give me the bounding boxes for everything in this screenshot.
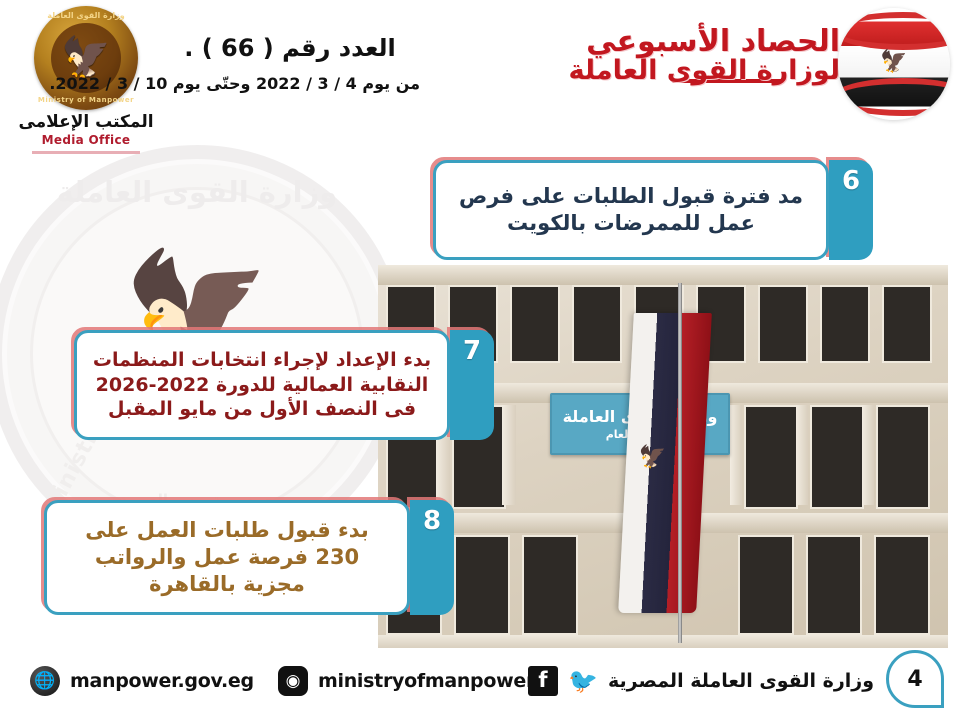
callout-text: بدء الإعداد لإجراء انتخابات المنظمات الن… [91, 348, 433, 422]
globe-swirl-bottom-icon [838, 78, 950, 116]
infographic-page: وزارة القوى العاملة 🦅 جمهورية مصر العربي… [0, 0, 960, 720]
eagle-emblem-icon: 🦅 [880, 49, 907, 74]
callout-body: مد فترة قبول الطلبات على فرص عمل للممرضا… [433, 160, 829, 260]
building-window [758, 285, 808, 363]
callout-text: بدء قبول طلبات العمل على 230 فرصة عمل وا… [61, 517, 393, 599]
building-window [744, 405, 798, 509]
callout-body: بدء قبول طلبات العمل على 230 فرصة عمل وا… [44, 500, 410, 615]
building-column [502, 405, 516, 505]
building-window [874, 535, 930, 635]
website-label: manpower.gov.eg [70, 670, 254, 692]
callout-number-tab: 7 [450, 330, 494, 440]
media-office-label-en: Media Office [18, 133, 154, 147]
callout-body: بدء الإعداد لإجراء انتخابات المنظمات الن… [74, 330, 450, 440]
building-column [862, 405, 874, 505]
social-links[interactable]: f 🐦 وزارة القوى العاملة المصرية [528, 666, 874, 696]
seal-arabic-text: وزارة القوى العاملة [34, 11, 138, 20]
building-window [876, 405, 930, 509]
building-window [806, 535, 862, 635]
date-range-line: من يوم 4 / 3 / 2022 وحتّى يوم 10 / 3 / 2… [120, 74, 420, 93]
building-window [522, 535, 578, 635]
eagle-emblem-icon: 🦅 [61, 38, 111, 78]
egypt-flag-globe-icon: 🦅 [838, 8, 950, 120]
building-window [820, 285, 870, 363]
building-window [882, 285, 932, 363]
footer-bar: 🌐 manpower.gov.eg ◉ ministryofmanpower f… [0, 648, 960, 720]
callout-card-6[interactable]: 6 مد فترة قبول الطلبات على فرص عمل للممر… [433, 160, 873, 260]
ministry-building-photo: وزارة القوى العاملة الديوان العام 🦅 [378, 265, 948, 650]
eagle-emblem-icon: 🦅 [638, 445, 667, 470]
building-window [510, 285, 560, 363]
media-office-divider [32, 151, 140, 154]
website-link[interactable]: 🌐 manpower.gov.eg [30, 666, 254, 696]
building-window [572, 285, 622, 363]
instagram-label: ministryofmanpower [318, 670, 535, 692]
watermark-top-text: وزارة القوى العاملة [2, 175, 392, 209]
seal-english-text: Ministry of Manpower [34, 96, 138, 104]
callout-card-7[interactable]: 7 بدء الإعداد لإجراء انتخابات المنظمات ا… [74, 330, 494, 440]
brand-title-line1: الحصاد الأسبوعي [568, 26, 840, 58]
callout-card-8[interactable]: 8 بدء قبول طلبات العمل على 230 فرصة عمل … [44, 500, 454, 615]
callout-number-tab: 6 [829, 160, 873, 260]
social-label: وزارة القوى العاملة المصرية [608, 670, 874, 692]
building-slab [378, 265, 948, 285]
instagram-link[interactable]: ◉ ministryofmanpower [278, 666, 535, 696]
instagram-icon: ◉ [278, 666, 308, 696]
building-window [810, 405, 864, 509]
callout-number: 6 [842, 168, 860, 194]
globe-icon: 🌐 [30, 666, 60, 696]
page-number: 4 [907, 667, 922, 692]
building-window [454, 535, 510, 635]
building-column [796, 405, 808, 505]
flag-pole [678, 283, 682, 643]
building-column [730, 405, 742, 505]
brand-title: الحصاد الأسبوعي لوزارة القوى العاملة [568, 26, 840, 83]
callout-number: 7 [463, 338, 481, 364]
page-number-badge: 4 [886, 650, 944, 708]
issue-number-line: العدد رقم ( 66 ) . [140, 34, 440, 62]
ministry-seal-icon: وزارة القوى العاملة 🦅 Ministry of Manpow… [34, 6, 138, 110]
building-window [738, 535, 794, 635]
callout-text: مد فترة قبول الطلبات على فرص عمل للممرضا… [450, 183, 812, 238]
facebook-icon[interactable]: f [528, 666, 558, 696]
media-office-label-ar: المكتب الإعلامى [18, 112, 154, 132]
twitter-icon[interactable]: 🐦 [568, 666, 598, 696]
callout-number: 8 [423, 508, 441, 534]
brand-title-line2: لوزارة القوى العاملة [568, 56, 840, 86]
callout-number-tab: 8 [410, 500, 454, 615]
globe-swirl-top-icon [838, 12, 950, 50]
egypt-flag-icon: 🦅 [618, 313, 712, 613]
